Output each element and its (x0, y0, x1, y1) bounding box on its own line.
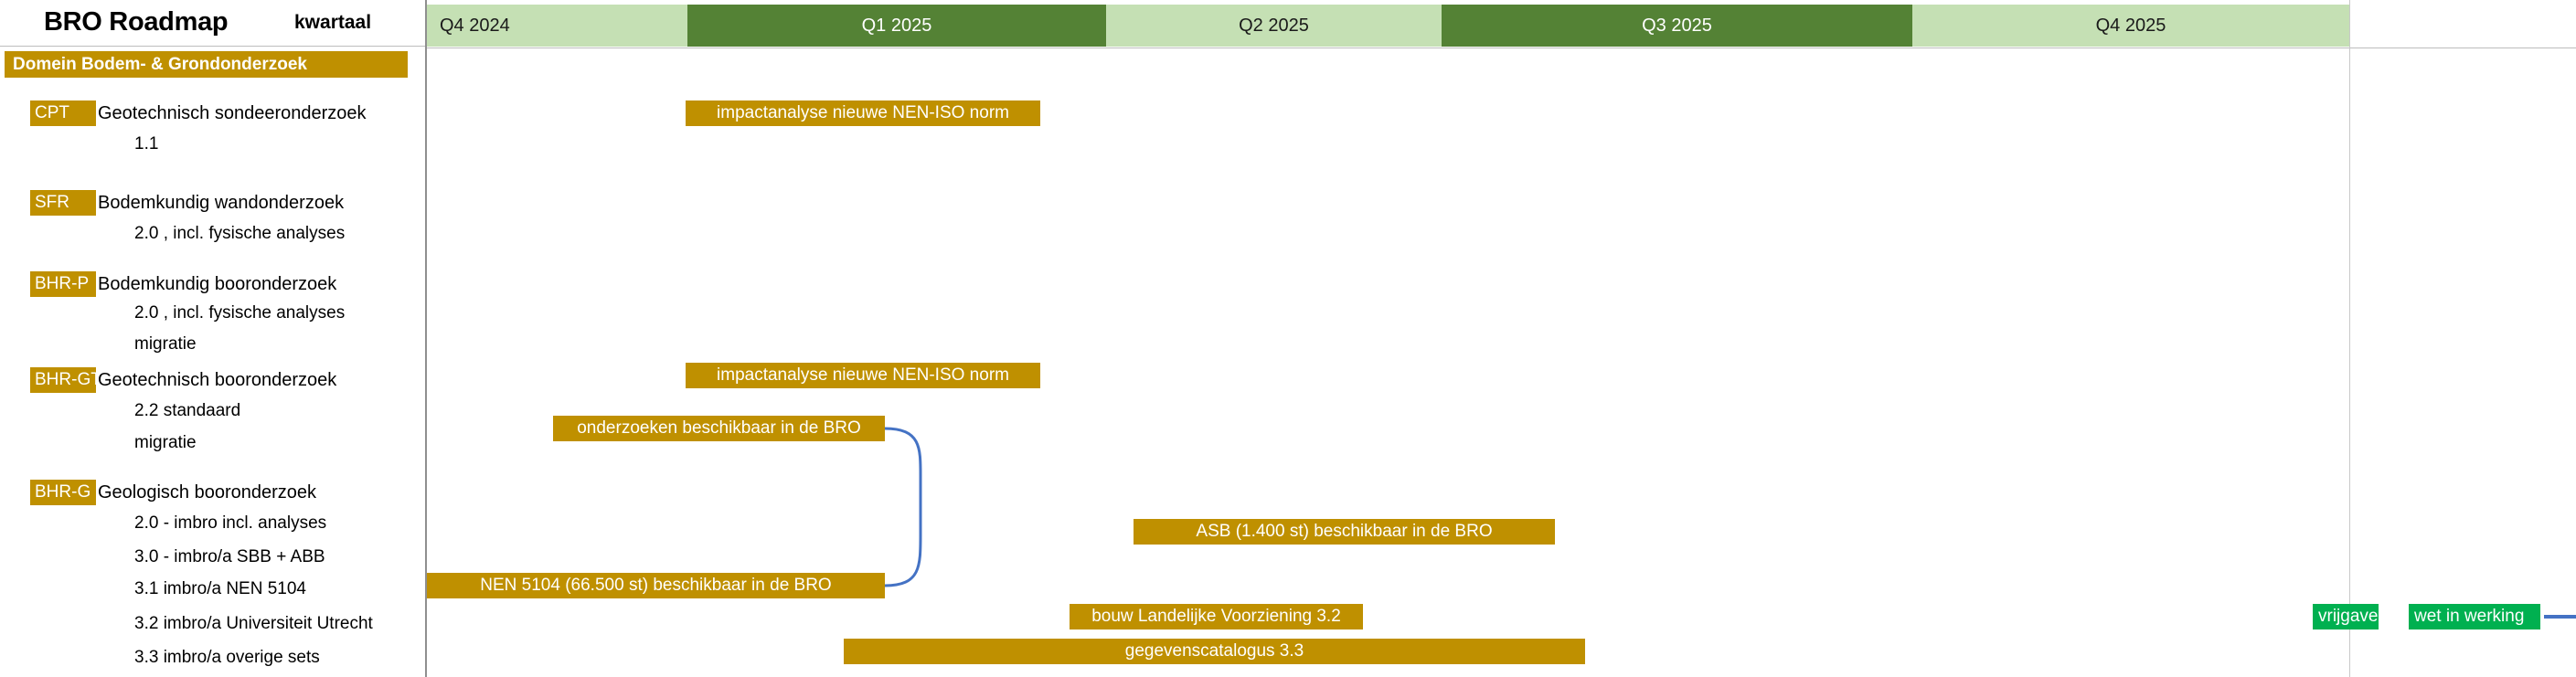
group-sub-item: 1.1 (134, 132, 158, 156)
group-sub-item: migratie (134, 431, 197, 455)
legend-chip: wet in werking (2409, 604, 2540, 629)
group-code-badge: BHR-P (30, 271, 96, 297)
group-sub-item: 3.2 imbro/a Universiteit Utrecht (134, 612, 373, 636)
group-code-badge: BHR-G (30, 480, 96, 505)
quarter-header-cell: Q2 2025 (1106, 5, 1442, 47)
group-title: Bodemkundig booronderzoek (98, 271, 336, 297)
group-title: Geologisch booronderzoek (98, 480, 316, 505)
group-sub-item: 2.2 standaard (134, 399, 240, 423)
gantt-bar[interactable]: bouw Landelijke Voorziening 3.2 (1070, 604, 1363, 629)
gantt-bar[interactable]: impactanalyse nieuwe NEN-ISO norm (686, 363, 1040, 388)
group-sub-item: 2.0 , incl. fysische analyses (134, 222, 345, 246)
header-divider (427, 48, 2576, 48)
gantt-bar[interactable]: gegevenscatalogus 3.3 (844, 639, 1585, 664)
legend-chip: vrijgave (2313, 604, 2379, 629)
domain-banner: Domein Bodem- & Grondonderzoek (5, 51, 408, 78)
group-sub-item: 3.0 - imbro/a SBB + ABB (134, 545, 325, 569)
group-code-badge: CPT (30, 100, 96, 126)
group-code-badge: SFR (30, 190, 96, 216)
gantt-bar[interactable]: impactanalyse nieuwe NEN-ISO norm (686, 100, 1040, 126)
right-divider (2349, 0, 2350, 677)
quarter-header-cell: Q1 2025 (687, 5, 1106, 47)
group-title: Bodemkundig wandonderzoek (98, 190, 344, 216)
title-row: BRO Roadmap kwartaal (0, 0, 425, 47)
page-title: BRO Roadmap (44, 7, 228, 37)
group-sub-item: 2.0 - imbro incl. analyses (134, 512, 326, 535)
quarter-header-row: Q4 2024Q1 2025Q2 2025Q3 2025Q4 2025 (427, 5, 2576, 47)
quarter-header-cell: Q4 2024 (427, 5, 687, 47)
roadmap-canvas: BRO Roadmap kwartaal Domein Bodem- & Gro… (0, 0, 2576, 677)
group-title: Geotechnisch sondeeronderzoek (98, 100, 367, 126)
gantt-bar[interactable]: ASB (1.400 st) beschikbaar in de BRO (1134, 519, 1555, 545)
group-sub-item: 3.3 imbro/a overige sets (134, 646, 320, 670)
group-sub-item: 2.0 , incl. fysische analyses (134, 301, 345, 325)
quarter-header-cell: Q4 2025 (1912, 5, 2349, 47)
sidebar: BRO Roadmap kwartaal Domein Bodem- & Gro… (0, 0, 427, 677)
timeline-area: Q4 2024Q1 2025Q2 2025Q3 2025Q4 2025 impa… (427, 0, 2576, 677)
quarter-header-cell: Q3 2025 (1442, 5, 1912, 47)
group-code-badge: BHR-GT (30, 367, 96, 393)
group-title: Geotechnisch booronderzoek (98, 367, 336, 393)
group-sub-item: 3.1 imbro/a NEN 5104 (134, 577, 306, 601)
group-sub-item: migratie (134, 333, 197, 356)
gantt-bar[interactable]: NEN 5104 (66.500 st) beschikbaar in de B… (427, 573, 885, 598)
blue-arrow-icon (2544, 606, 2576, 628)
gantt-bar[interactable]: onderzoeken beschikbaar in de BRO (553, 416, 885, 441)
quarter-column-label: kwartaal (294, 12, 371, 34)
